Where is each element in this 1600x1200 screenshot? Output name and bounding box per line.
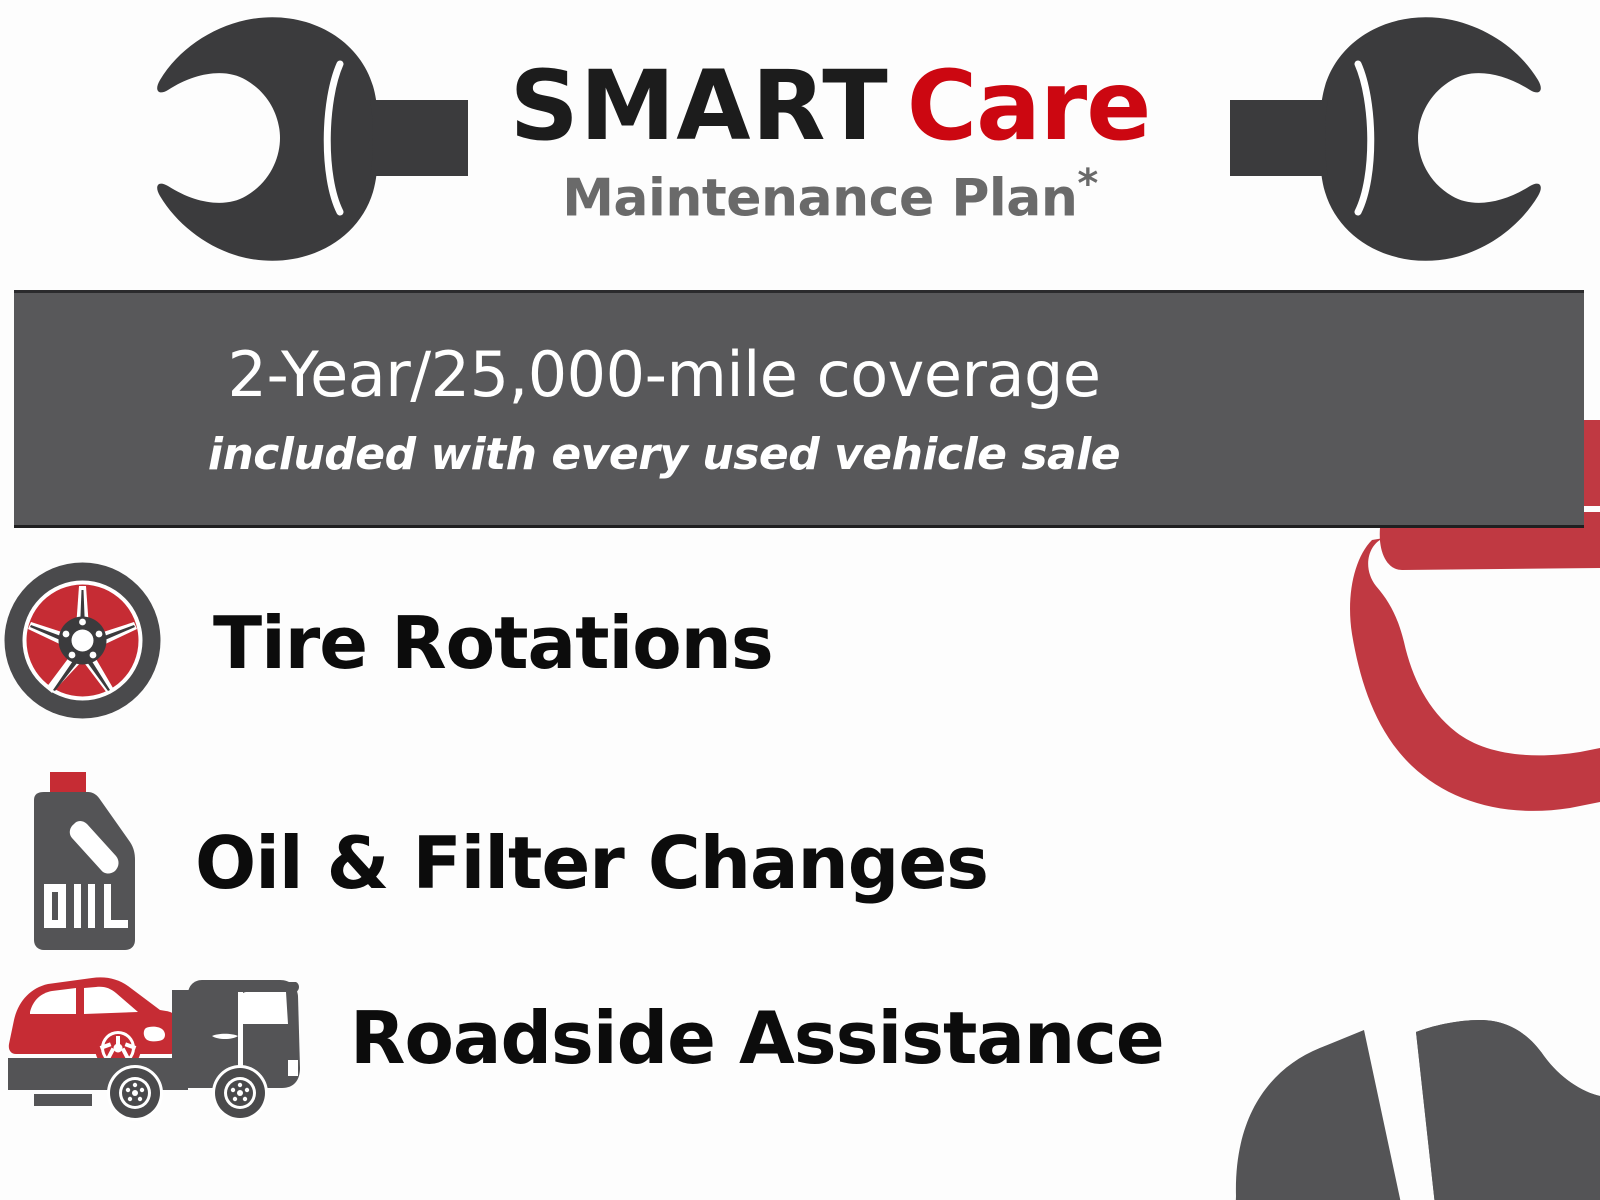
brand-care: Care xyxy=(907,50,1151,162)
coverage-headline: 2-Year/25,000-mile coverage xyxy=(228,338,1101,411)
tow-truck-icon xyxy=(0,948,330,1128)
feature-item-roadside-assistance: Roadside Assistance xyxy=(0,948,1164,1128)
logo-header: SMARTCare Maintenance Plan* xyxy=(0,0,1600,280)
logo-subtitle-text: Maintenance Plan xyxy=(562,168,1077,228)
smart-care-poster: SMARTCare Maintenance Plan* xyxy=(0,0,1600,1200)
tire-icon xyxy=(0,558,165,728)
feature-label: Roadside Assistance xyxy=(350,996,1164,1080)
brand-smart: SMART xyxy=(510,50,889,162)
logo-text-block: SMARTCare Maintenance Plan* xyxy=(430,58,1230,228)
coverage-banner-content: 2-Year/25,000-mile coverage included wit… xyxy=(14,293,1314,525)
feature-label: Tire Rotations xyxy=(213,601,773,685)
coverage-banner: 2-Year/25,000-mile coverage included wit… xyxy=(14,290,1584,528)
wrench-icon xyxy=(118,8,468,268)
brand-name: SMARTCare xyxy=(430,58,1230,155)
wrench-icon xyxy=(1230,8,1580,268)
logo-subtitle: Maintenance Plan* xyxy=(430,161,1230,228)
coverage-subline: included with every used vehicle sale xyxy=(208,429,1120,480)
feature-item-oil-filter-changes: Oil & Filter Changes xyxy=(0,768,988,958)
oil-bottle-icon xyxy=(22,768,147,958)
mechanic-with-wrench-icon xyxy=(1140,420,1600,1200)
feature-item-tire-rotations: Tire Rotations xyxy=(0,558,773,728)
logo-subtitle-asterisk: * xyxy=(1077,161,1097,207)
feature-label: Oil & Filter Changes xyxy=(195,821,988,905)
